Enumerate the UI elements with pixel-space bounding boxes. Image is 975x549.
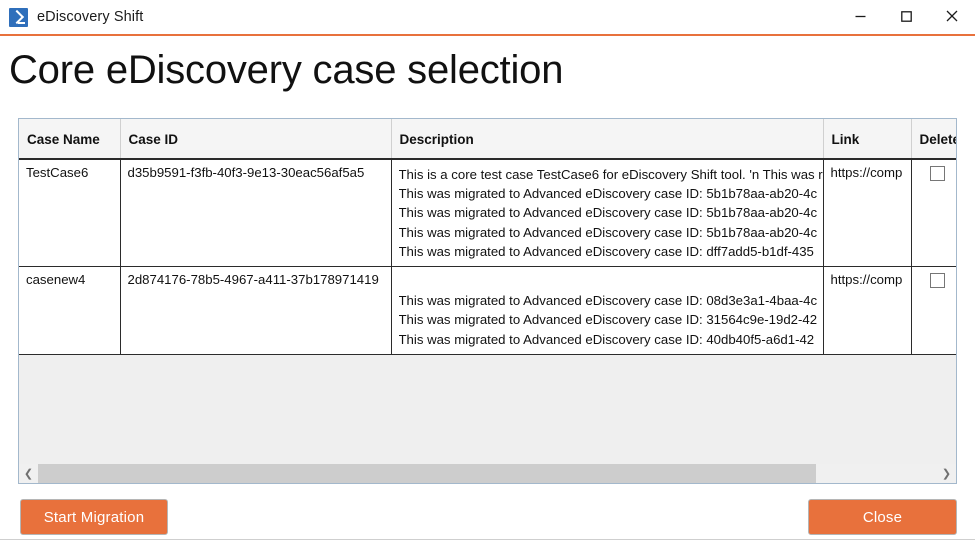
- cell-description: This was migrated to Advanced eDiscovery…: [391, 267, 823, 355]
- page-title: Core eDiscovery case selection: [9, 47, 563, 93]
- case-grid-panel: Case Name Case ID Description Link Delet…: [18, 118, 957, 484]
- description-line: This was migrated to Advanced eDiscovery…: [399, 310, 823, 329]
- column-header-delete[interactable]: Delete: [911, 119, 956, 159]
- column-header-link[interactable]: Link: [823, 119, 911, 159]
- column-header-case-id[interactable]: Case ID: [120, 119, 391, 159]
- table-row[interactable]: TestCase6d35b9591-f3fb-40f3-9e13-30eac56…: [19, 159, 956, 267]
- cell-delete: [911, 159, 956, 267]
- table-header: Case Name Case ID Description Link Delet…: [19, 119, 956, 159]
- start-migration-button[interactable]: Start Migration: [20, 499, 168, 535]
- table-body: TestCase6d35b9591-f3fb-40f3-9e13-30eac56…: [19, 159, 956, 354]
- maximize-icon: [901, 11, 912, 22]
- delete-checkbox[interactable]: [930, 273, 945, 288]
- delete-checkbox[interactable]: [930, 166, 945, 181]
- cell-delete: [911, 267, 956, 355]
- minimize-button[interactable]: [837, 0, 883, 33]
- description-line: This was migrated to Advanced eDiscovery…: [399, 223, 823, 242]
- window-controls: [837, 0, 975, 35]
- close-dialog-button[interactable]: Close: [808, 499, 957, 535]
- maximize-button[interactable]: [883, 0, 929, 33]
- table-header-row: Case Name Case ID Description Link Delet…: [19, 119, 956, 159]
- cell-link[interactable]: https://comp: [823, 159, 911, 267]
- column-header-description[interactable]: Description: [391, 119, 823, 159]
- cell-case-name: TestCase6: [19, 159, 120, 267]
- close-button[interactable]: [929, 0, 975, 33]
- powershell-icon: [9, 8, 28, 27]
- column-header-case-name[interactable]: Case Name: [19, 119, 120, 159]
- minimize-icon: [855, 11, 866, 22]
- description-line: This was migrated to Advanced eDiscovery…: [399, 330, 823, 349]
- description-line: This was migrated to Advanced eDiscovery…: [399, 291, 823, 310]
- description-line: This was migrated to Advanced eDiscovery…: [399, 242, 823, 261]
- description-line: This was migrated to Advanced eDiscovery…: [399, 184, 823, 203]
- case-table: Case Name Case ID Description Link Delet…: [19, 119, 956, 355]
- chevron-right-icon[interactable]: ❯: [937, 464, 956, 483]
- chevron-left-icon[interactable]: ❮: [19, 464, 38, 483]
- cell-case-id: 2d874176-78b5-4967-a411-37b178971419: [120, 267, 391, 355]
- title-bar: eDiscovery Shift: [0, 0, 975, 36]
- window-title: eDiscovery Shift: [37, 9, 143, 25]
- cell-case-name: casenew4: [19, 267, 120, 355]
- close-icon: [946, 10, 958, 22]
- application-window: eDiscovery Shift Core eDiscovery cas: [0, 0, 975, 549]
- table-row[interactable]: casenew42d874176-78b5-4967-a411-37b17897…: [19, 267, 956, 355]
- description-line: This was migrated to Advanced eDiscovery…: [399, 203, 823, 222]
- title-bar-left: eDiscovery Shift: [0, 8, 837, 27]
- scrollbar-track[interactable]: [38, 464, 937, 483]
- background-content-strip: [0, 539, 975, 549]
- description-line: This is a core test case TestCase6 for e…: [399, 165, 823, 184]
- horizontal-scrollbar[interactable]: ❮ ❯: [19, 464, 956, 483]
- cell-case-id: d35b9591-f3fb-40f3-9e13-30eac56af5a5: [120, 159, 391, 267]
- cell-description: This is a core test case TestCase6 for e…: [391, 159, 823, 267]
- cell-link[interactable]: https://comp: [823, 267, 911, 355]
- scrollbar-thumb[interactable]: [38, 464, 816, 483]
